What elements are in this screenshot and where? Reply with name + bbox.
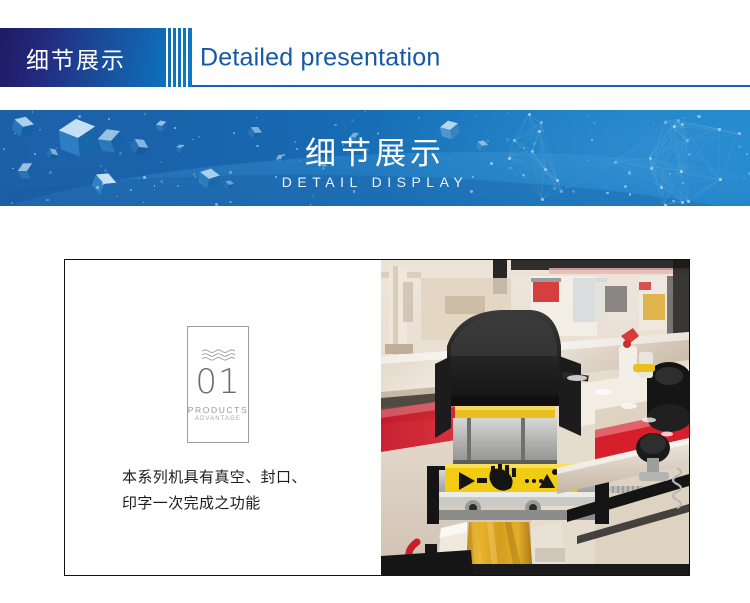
card-text-panel: 01 PRODUCTS ADVANTAGE 本系列机具有真空、封口、 印字一次完… (65, 260, 381, 575)
badge-number: 01 (195, 365, 240, 399)
section-header: 细节展示 Detailed presentation (0, 28, 750, 87)
header-tab: 细节展示 (0, 28, 192, 87)
detail-content-card: 01 PRODUCTS ADVANTAGE 本系列机具有真空、封口、 印字一次完… (64, 259, 690, 576)
detail-display-banner: 细节展示 DETAIL DISPLAY (0, 110, 750, 206)
banner-title: 细节展示 (0, 128, 750, 173)
product-advantage-badge: 01 PRODUCTS ADVANTAGE (187, 326, 249, 443)
description-line-2: 印字一次完成之功能 (122, 491, 372, 517)
badge-caption-primary: PRODUCTS (188, 405, 249, 415)
wave-lines-icon (201, 348, 235, 362)
product-photo-canvas: 1860 (381, 260, 689, 575)
product-photo: 1860 (381, 260, 689, 575)
header-tab-label: 细节展示 (26, 41, 126, 75)
badge-caption-secondary: ADVANTAGE (195, 416, 241, 422)
description-line-1: 本系列机具有真空、封口、 (122, 465, 372, 491)
header-divider-rule (192, 85, 750, 87)
header-subtitle: Detailed presentation (200, 43, 440, 72)
header-stripes-decoration (165, 28, 192, 87)
product-description: 本系列机具有真空、封口、 印字一次完成之功能 (122, 465, 372, 517)
banner-subtitle: DETAIL DISPLAY (0, 174, 750, 190)
